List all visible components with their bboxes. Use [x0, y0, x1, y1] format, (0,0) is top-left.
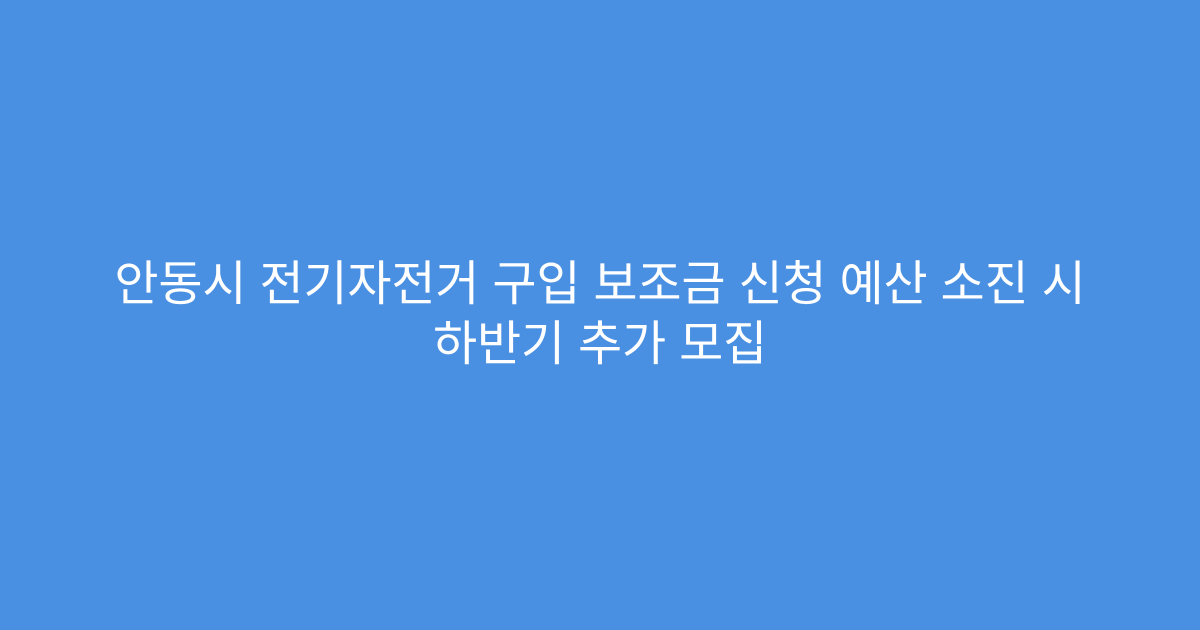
- page-title: 안동시 전기자전거 구입 보조금 신청 예산 소진 시 하반기 추가 모집: [70, 255, 1130, 375]
- card-content-container: 안동시 전기자전거 구입 보조금 신청 예산 소진 시 하반기 추가 모집: [0, 255, 1200, 375]
- og-share-card: 안동시 전기자전거 구입 보조금 신청 예산 소진 시 하반기 추가 모집: [0, 0, 1200, 630]
